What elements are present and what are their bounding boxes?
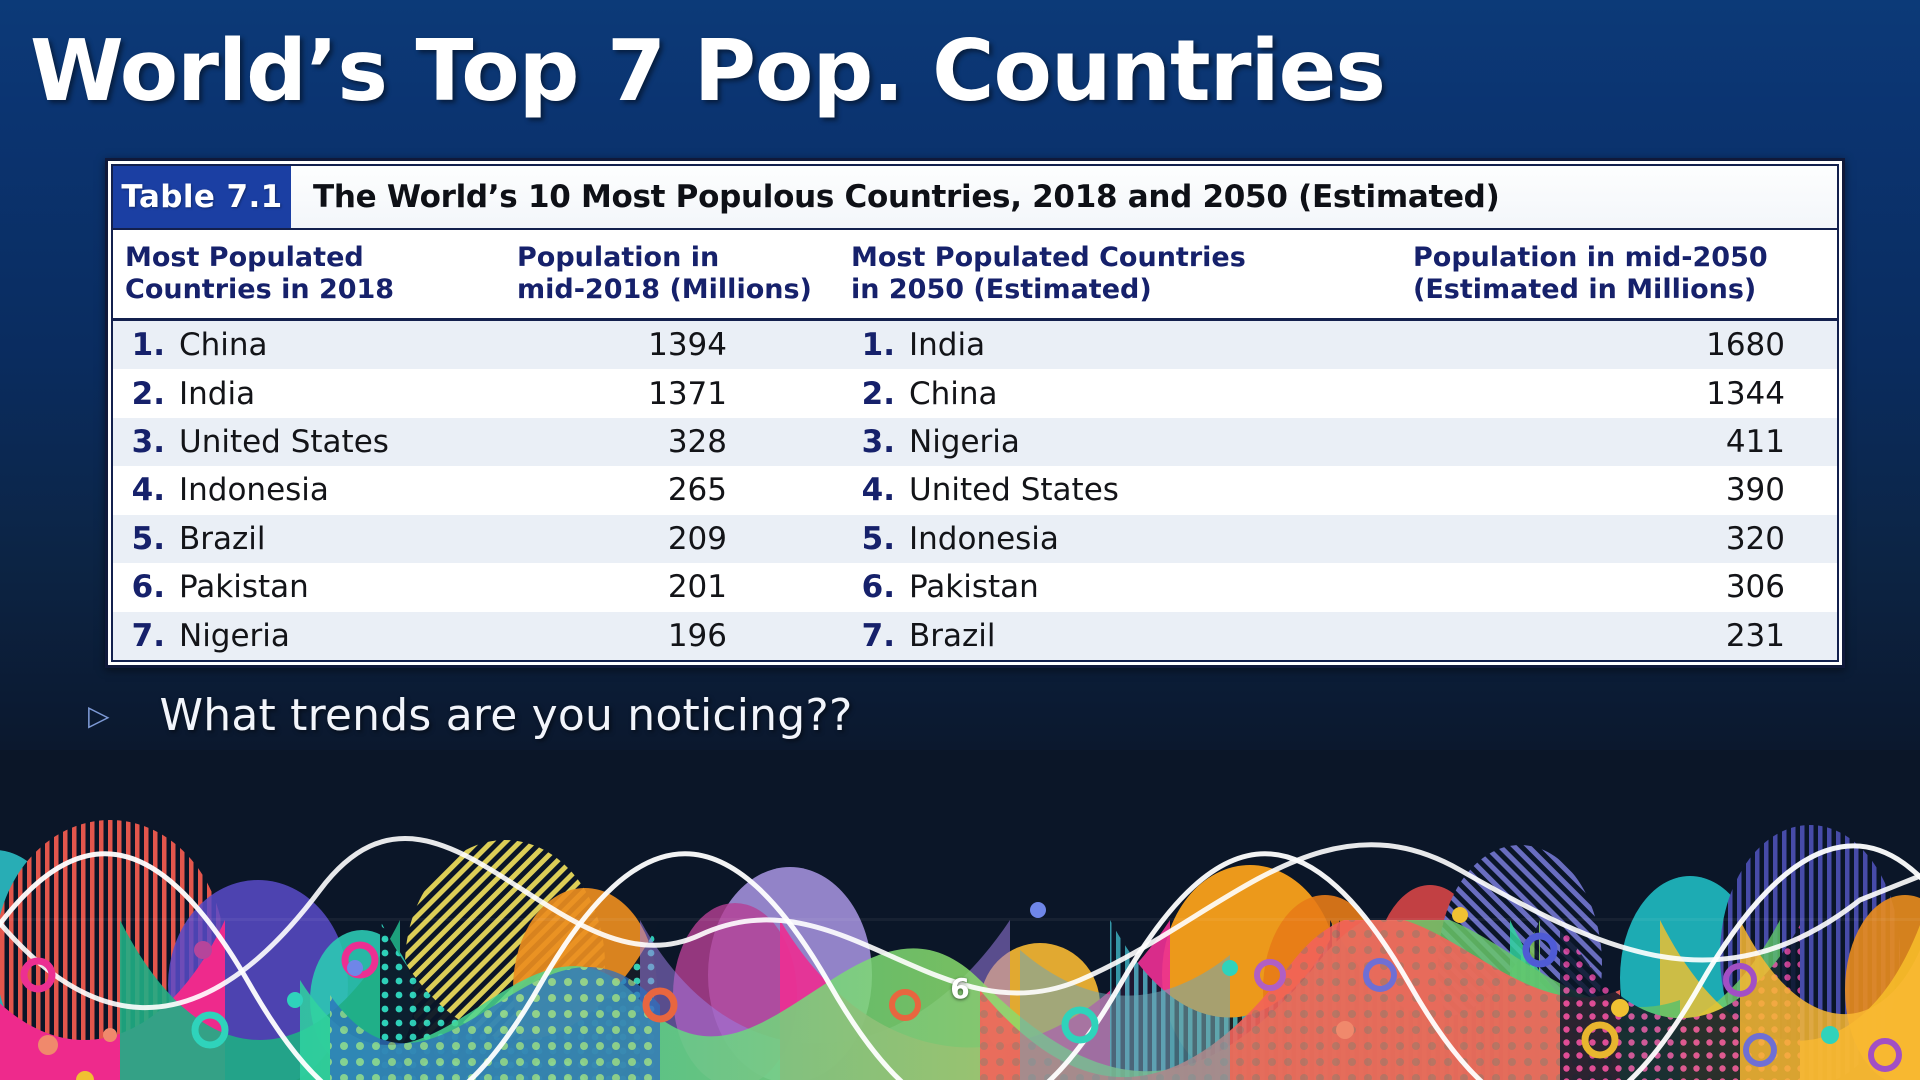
population-2018: 328 xyxy=(509,424,773,460)
country-2018: Brazil xyxy=(179,521,509,557)
bullet-item: ▷ What trends are you noticing?? xyxy=(88,690,853,741)
table-header-row: Most Populated Countries in 2018 Populat… xyxy=(113,230,1837,321)
population-2050: 390 xyxy=(1329,472,1837,508)
rank-2018: 3. xyxy=(113,424,179,460)
rank-2050: 4. xyxy=(843,472,909,508)
bullet-text: What trends are you noticing?? xyxy=(160,690,853,741)
country-2050: Nigeria xyxy=(909,424,1329,460)
country-2018: Pakistan xyxy=(179,569,509,605)
wave-graphic xyxy=(0,750,1920,1080)
country-2050: India xyxy=(909,327,1329,363)
rank-2050: 2. xyxy=(843,376,909,412)
population-2018: 265 xyxy=(509,472,773,508)
country-2050: Brazil xyxy=(909,618,1329,654)
rank-2050: 1. xyxy=(843,327,909,363)
table-row: 4. Indonesia 265 4. United States 390 xyxy=(113,466,1837,514)
slide: World’s Top 7 Pop. Countries Table 7.1 T… xyxy=(0,0,1920,1080)
rank-2050: 3. xyxy=(843,424,909,460)
column-header-line2: Countries in 2018 xyxy=(125,274,394,306)
table-caption-row: Table 7.1 The World’s 10 Most Populous C… xyxy=(113,166,1837,230)
column-header-line1: Most Populated Countries xyxy=(851,242,1246,274)
table-caption: The World’s 10 Most Populous Countries, … xyxy=(291,166,1837,228)
rank-2018: 5. xyxy=(113,521,179,557)
rank-2018: 7. xyxy=(113,618,179,654)
column-header-countries-2050: Most Populated Countries in 2050 (Estima… xyxy=(843,230,1399,318)
rank-2050: 5. xyxy=(843,521,909,557)
table-body: 1. China 1394 1. India 1680 2. India 137… xyxy=(113,321,1837,660)
slide-number: 6 xyxy=(0,972,1920,1005)
decorative-wave-footer xyxy=(0,750,1920,1080)
country-2018: India xyxy=(179,376,509,412)
triangle-bullet-icon: ▷ xyxy=(88,702,110,730)
table-row: 5. Brazil 209 5. Indonesia 320 xyxy=(113,515,1837,563)
column-header-line1: Population in mid-2050 xyxy=(1413,242,1768,274)
rank-2050: 6. xyxy=(843,569,909,605)
population-2018: 201 xyxy=(509,569,773,605)
country-2050: United States xyxy=(909,472,1329,508)
country-2018: United States xyxy=(179,424,509,460)
table-row: 2. India 1371 2. China 1344 xyxy=(113,369,1837,417)
population-2018: 1371 xyxy=(509,376,773,412)
column-header-line2: mid-2018 (Millions) xyxy=(517,274,812,306)
table-row: 7. Nigeria 196 7. Brazil 231 xyxy=(113,612,1837,660)
country-2050: Pakistan xyxy=(909,569,1329,605)
country-2018: Nigeria xyxy=(179,618,509,654)
column-header-line2: (Estimated in Millions) xyxy=(1413,274,1768,306)
population-2050: 1344 xyxy=(1329,376,1837,412)
table-row: 3. United States 328 3. Nigeria 411 xyxy=(113,418,1837,466)
country-2050: Indonesia xyxy=(909,521,1329,557)
rank-2018: 4. xyxy=(113,472,179,508)
column-header-population-2018: Population in mid-2018 (Millions) xyxy=(509,230,843,318)
rank-2018: 1. xyxy=(113,327,179,363)
population-2050: 411 xyxy=(1329,424,1837,460)
column-header-line1: Population in xyxy=(517,242,812,274)
population-2050: 320 xyxy=(1329,521,1837,557)
table-number-badge: Table 7.1 xyxy=(113,166,291,228)
population-2018: 1394 xyxy=(509,327,773,363)
table-row: 1. China 1394 1. India 1680 xyxy=(113,321,1837,369)
table-inner: Table 7.1 The World’s 10 Most Populous C… xyxy=(111,164,1839,662)
population-2050: 306 xyxy=(1329,569,1837,605)
population-2018: 196 xyxy=(509,618,773,654)
table-row: 6. Pakistan 201 6. Pakistan 306 xyxy=(113,563,1837,611)
column-header-line1: Most Populated xyxy=(125,242,394,274)
column-header-countries-2018: Most Populated Countries in 2018 xyxy=(113,230,509,318)
rank-2018: 6. xyxy=(113,569,179,605)
rank-2050: 7. xyxy=(843,618,909,654)
population-2018: 209 xyxy=(509,521,773,557)
country-2050: China xyxy=(909,376,1329,412)
country-2018: China xyxy=(179,327,509,363)
population-2050: 231 xyxy=(1329,618,1837,654)
rank-2018: 2. xyxy=(113,376,179,412)
column-header-population-2050: Population in mid-2050 (Estimated in Mil… xyxy=(1399,230,1837,318)
population-table: Table 7.1 The World’s 10 Most Populous C… xyxy=(105,158,1845,668)
population-2050: 1680 xyxy=(1329,327,1837,363)
page-title: World’s Top 7 Pop. Countries xyxy=(30,22,1385,121)
column-header-line2: in 2050 (Estimated) xyxy=(851,274,1246,306)
country-2018: Indonesia xyxy=(179,472,509,508)
